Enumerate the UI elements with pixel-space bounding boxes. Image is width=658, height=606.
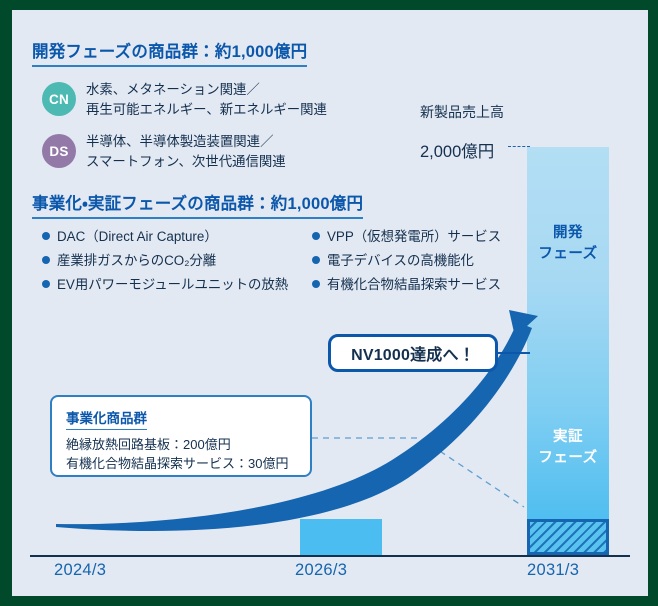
bullet-label: VPP（仮想発電所）サービス bbox=[327, 230, 501, 243]
leader-line-info-box bbox=[312, 438, 524, 507]
sales-axis-title: 新製品売上高 bbox=[420, 102, 504, 122]
bullet-dot-icon bbox=[312, 256, 320, 264]
bar-label-development-phase: 開発 フェーズ bbox=[527, 223, 609, 265]
info-box-line-2: 有機化合物結晶探索サービス：30億円 bbox=[66, 455, 296, 474]
cn-badge-text: 水素、メタネーション関連／ 再生可能エネルギー、新エネルギー関連 bbox=[86, 80, 327, 120]
cn-badge-icon: CN bbox=[42, 82, 76, 116]
bar-label-dev-line2: フェーズ bbox=[527, 244, 609, 265]
bar-label-proof-line2: フェーズ bbox=[527, 448, 609, 469]
list-item: 電子デバイスの高機能化 bbox=[312, 254, 501, 278]
bullet-dot-icon bbox=[312, 232, 320, 240]
bar-label-proof-phase: 実証 フェーズ bbox=[527, 427, 609, 469]
development-phase-heading: 開発フェーズの商品群：約1,000億円 bbox=[32, 38, 307, 67]
ds-badge-icon: DS bbox=[42, 134, 76, 168]
bar-2026-proof-phase bbox=[300, 519, 382, 555]
sales-reference-value: 2,000億円 bbox=[420, 138, 494, 162]
bar-label-proof-line1: 実証 bbox=[527, 427, 609, 448]
x-axis-tick-2026: 2026/3 bbox=[295, 561, 347, 580]
ds-text-line-1: 半導体、半導体製造装置関連／ bbox=[86, 132, 286, 152]
bullet-label: 産業排ガスからのCO₂分離 bbox=[57, 254, 216, 267]
list-item: VPP（仮想発電所）サービス bbox=[312, 230, 501, 254]
info-box-line-1: 絶縁放熱回路基板：200億円 bbox=[66, 436, 296, 455]
commercial-phase-heading: 事業化・実証フェーズの商品群：約1,000億円 bbox=[32, 190, 363, 219]
bullet-dot-icon bbox=[42, 232, 50, 240]
bar-2031-commercialized-hatched bbox=[527, 519, 609, 555]
legend-item-cn: CN 水素、メタネーション関連／ 再生可能エネルギー、新エネルギー関連 bbox=[42, 80, 327, 120]
commercialized-products-info-box: 事業化商品群 絶縁放熱回路基板：200億円 有機化合物結晶探索サービス：30億円 bbox=[50, 395, 312, 477]
bar-label-dev-line1: 開発 bbox=[527, 223, 609, 244]
list-item: EV用パワーモジュールユニットの放熱 bbox=[42, 278, 288, 302]
x-axis-tick-2031: 2031/3 bbox=[527, 561, 579, 580]
bullet-dot-icon bbox=[312, 280, 320, 288]
x-axis-tick-2024: 2024/3 bbox=[54, 561, 106, 580]
bullet-label: DAC（Direct Air Capture） bbox=[57, 230, 218, 243]
bullet-dot-icon bbox=[42, 256, 50, 264]
x-axis-line bbox=[30, 555, 630, 557]
bullet-column-right: VPP（仮想発電所）サービス 電子デバイスの高機能化 有機化合物結晶探索サービス bbox=[312, 230, 501, 302]
ds-text-line-2: スマートフォン、次世代通信関連 bbox=[86, 152, 286, 172]
list-item: 産業排ガスからのCO₂分離 bbox=[42, 254, 288, 278]
bullet-dot-icon bbox=[42, 280, 50, 288]
cn-text-line-2: 再生可能エネルギー、新エネルギー関連 bbox=[86, 100, 327, 120]
bullet-column-left: DAC（Direct Air Capture） 産業排ガスからのCO₂分離 EV… bbox=[42, 230, 288, 302]
nv1000-callout: NV1000達成へ！ bbox=[328, 334, 498, 372]
callout-leader-line bbox=[498, 352, 530, 354]
slide-panel: 開発フェーズの商品群：約1,000億円 CN 水素、メタネーション関連／ 再生可… bbox=[12, 10, 648, 596]
slide-frame: 開発フェーズの商品群：約1,000億円 CN 水素、メタネーション関連／ 再生可… bbox=[0, 0, 658, 606]
info-box-title: 事業化商品群 bbox=[66, 407, 147, 430]
bullet-label: 電子デバイスの高機能化 bbox=[327, 254, 474, 267]
list-item: 有機化合物結晶探索サービス bbox=[312, 278, 501, 302]
list-item: DAC（Direct Air Capture） bbox=[42, 230, 288, 254]
legend-item-ds: DS 半導体、半導体製造装置関連／ スマートフォン、次世代通信関連 bbox=[42, 132, 286, 172]
bullet-label: 有機化合物結晶探索サービス bbox=[327, 278, 501, 291]
bullet-label: EV用パワーモジュールユニットの放熱 bbox=[57, 278, 288, 291]
ds-badge-text: 半導体、半導体製造装置関連／ スマートフォン、次世代通信関連 bbox=[86, 132, 286, 172]
cn-text-line-1: 水素、メタネーション関連／ bbox=[86, 80, 327, 100]
